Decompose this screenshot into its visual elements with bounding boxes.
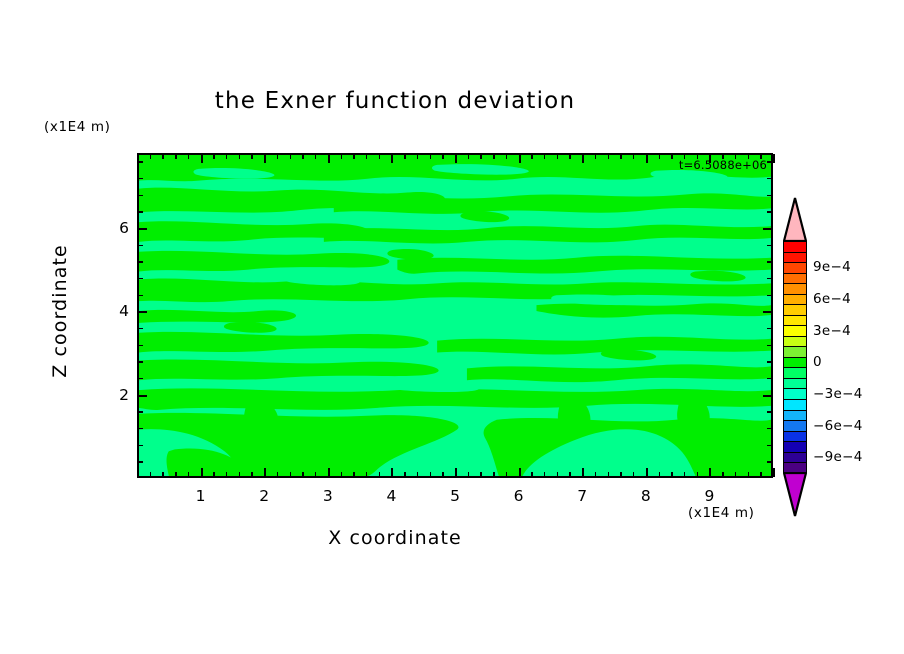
colorbar-tick-label: 3e−4	[813, 323, 851, 339]
colorbar-band	[784, 263, 806, 274]
y-axis-label: Z coordinate	[49, 211, 71, 411]
colorbar-band	[784, 421, 806, 432]
colorbar-band	[784, 379, 806, 390]
colorbar-band	[784, 389, 806, 400]
x-tick-label: 9	[704, 487, 714, 505]
colorbar-band	[784, 305, 806, 316]
colorbar-band	[784, 368, 806, 379]
colorbar-band	[784, 347, 806, 358]
y-tick-label: 6	[103, 219, 129, 237]
x-tick-label: 2	[259, 487, 269, 505]
colorbar-band	[784, 337, 806, 348]
colorbar-band	[784, 326, 806, 337]
timestamp-annotation: t=6.5088e+06	[679, 158, 767, 172]
colorbar-tick-label: 9e−4	[813, 259, 851, 275]
colorbar-band	[784, 274, 806, 285]
x-tick-label: 6	[514, 487, 524, 505]
z-axis-unit: (x1E4 m)	[44, 119, 110, 135]
x-tick-label: 3	[323, 487, 333, 505]
colorbar-tick-label: 6e−4	[813, 291, 851, 307]
colorbar-band	[784, 442, 806, 453]
colorbar-band	[784, 295, 806, 306]
y-tick-label: 2	[103, 386, 129, 404]
colorbar-band	[784, 453, 806, 464]
x-tick-label: 1	[196, 487, 206, 505]
colorbar-bands	[783, 241, 807, 473]
x-tick-label: 7	[577, 487, 587, 505]
colorbar-tick-label: −3e−4	[813, 386, 863, 402]
colorbar-tick-label: 0	[813, 354, 822, 370]
colorbar-band	[784, 284, 806, 295]
chart-title: the Exner function deviation	[0, 88, 790, 114]
colorbar-band	[784, 411, 806, 422]
colorbar-under-arrow	[783, 472, 807, 518]
contour-field	[139, 155, 771, 476]
colorbar-band	[784, 316, 806, 327]
colorbar-band	[784, 253, 806, 264]
colorbar-over-arrow	[783, 196, 807, 242]
colorbar-tick-label: −6e−4	[813, 418, 863, 434]
y-tick-label: 4	[103, 302, 129, 320]
x-tick-label: 5	[450, 487, 460, 505]
colorbar-tick-label: −9e−4	[813, 449, 863, 465]
x-axis-label: X coordinate	[0, 527, 790, 549]
colorbar-band	[784, 242, 806, 253]
contour-plot-area: t=6.5088e+06	[137, 153, 773, 478]
colorbar-band	[784, 432, 806, 443]
colorbar-band	[784, 358, 806, 369]
x-axis-unit: (x1E4 m)	[688, 505, 754, 521]
colorbar-band	[784, 400, 806, 411]
colorbar: 9e−46e−43e−40−3e−4−6e−4−9e−4	[783, 196, 807, 518]
x-tick-label: 8	[641, 487, 651, 505]
x-tick-label: 4	[386, 487, 396, 505]
